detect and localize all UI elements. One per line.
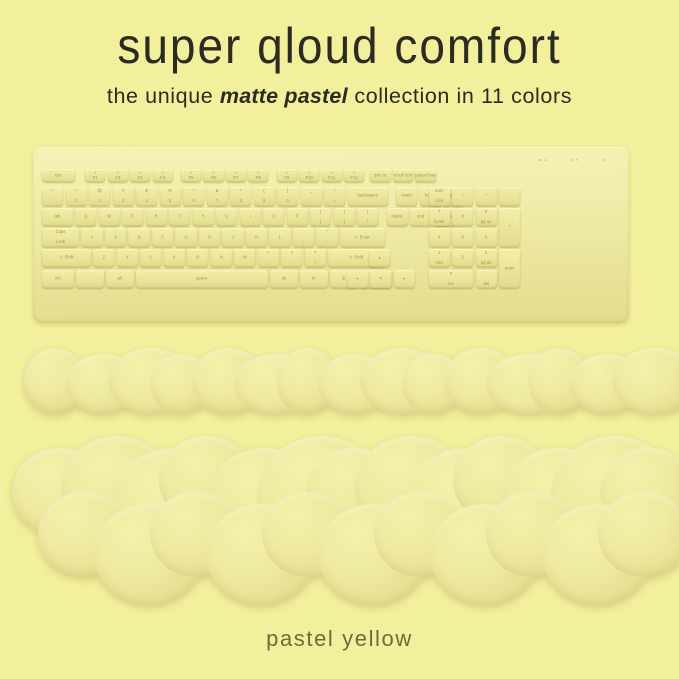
scrolllock-led: ↓ (603, 157, 610, 162)
key-legend: B (187, 256, 208, 261)
key-legend: home (429, 220, 450, 225)
key-legend: E (122, 215, 143, 220)
key-legend: ins (429, 282, 474, 287)
key-f8[interactable]: ♪F8 (248, 169, 268, 182)
key-legend: X (117, 256, 138, 261)
key-legend: F4 (153, 176, 173, 181)
key-legend: + (499, 225, 520, 230)
key-a-8[interactable]: K (246, 228, 267, 246)
key-numpad-*[interactable]: * (476, 187, 497, 205)
key-num-1[interactable]: !1 (66, 187, 87, 205)
key-a-1[interactable]: A (81, 228, 102, 246)
key-f4[interactable]: ♪F4 (153, 169, 173, 182)
key-z-10[interactable]: ?/ (305, 249, 326, 267)
key-num-2[interactable]: @2 (89, 187, 110, 205)
key-legend: @ (89, 189, 110, 194)
key-alt[interactable]: alt (106, 270, 134, 288)
key-space[interactable]: space (136, 270, 268, 288)
key-z-2[interactable]: X (117, 249, 138, 267)
key-legend: / (452, 194, 473, 199)
key-legend: alt (270, 276, 298, 281)
key-legend: V (164, 256, 185, 261)
key-num-8[interactable]: *8 (230, 187, 251, 205)
key-enter[interactable]: ↵ Enter (340, 228, 385, 246)
key-numpad-6[interactable]: 6 (476, 228, 497, 246)
key-q-8[interactable]: I (240, 208, 261, 226)
key-legend: 7 (429, 210, 450, 215)
key-legend: [ (310, 220, 331, 225)
indicator-leds: 1 A ↓ (539, 157, 610, 162)
key-esc[interactable]: esc (42, 169, 75, 182)
key-f1[interactable]: ♪F1 (85, 169, 105, 182)
key-legend: fn (300, 276, 328, 281)
key-legend: D (128, 235, 149, 240)
key-pause-break[interactable]: pause break (415, 169, 435, 182)
key-legend: ? (305, 251, 326, 256)
key-q-9[interactable]: O (263, 208, 284, 226)
key-legend: ] (334, 220, 355, 225)
key-alt[interactable]: alt (270, 270, 298, 288)
key-numpad-8[interactable]: 8 (452, 208, 473, 226)
key-a-2[interactable]: S (105, 228, 126, 246)
key-legend: ◂ (347, 276, 368, 281)
product-image: super qloud comfort the unique matte pas… (0, 0, 679, 679)
key-legend: % (160, 189, 181, 194)
key-legend: " (316, 230, 337, 235)
key-legend: num (429, 189, 450, 194)
key-legend: 1 (66, 199, 87, 204)
key-tab[interactable]: tab (42, 208, 73, 226)
key-legend: F2 (108, 176, 128, 181)
key-f11[interactable]: ♪F11 (322, 169, 342, 182)
key-legend: F6 (203, 176, 223, 181)
key-f7[interactable]: ♪F7 (226, 169, 246, 182)
key-legend: 5 (452, 235, 473, 240)
key-legend: . (476, 272, 497, 277)
key-legend: 9 (476, 210, 497, 215)
key-legend: * (230, 189, 251, 194)
subtitle-emphasis: matte pastel (220, 84, 348, 108)
key-legend: Z (93, 256, 114, 261)
subtitle-before: the unique (107, 84, 220, 108)
key-legend: pg up (476, 220, 497, 225)
key-q-10[interactable]: P (287, 208, 308, 226)
key-numpad---del[interactable]: .del (476, 270, 497, 288)
key-a-5[interactable]: G (175, 228, 196, 246)
key-numpad-7-home[interactable]: 7home (429, 208, 450, 226)
key-prtc-sc[interactable]: prtc sc (370, 169, 390, 182)
key-legend: ; (293, 240, 314, 245)
key-f6[interactable]: ♪F6 (203, 169, 223, 182)
key-a-7[interactable]: J (222, 228, 243, 246)
key-legend: space (136, 276, 268, 281)
key-num-3[interactable]: #3 (113, 187, 134, 205)
key-q-1[interactable]: Q (75, 208, 96, 226)
capslock-led: A (571, 157, 579, 162)
key-legend: M (234, 256, 255, 261)
key-a-4[interactable]: F (152, 228, 173, 246)
key-fn[interactable]: fn (300, 270, 328, 288)
key-legend: L (269, 235, 290, 240)
key-legend: esc (42, 173, 75, 178)
key-numpad-5[interactable]: 5 (452, 228, 473, 246)
key-numpad-1-end[interactable]: 1end (429, 249, 450, 267)
key-legend: - (499, 194, 520, 199)
key-legend: * (476, 194, 497, 199)
key-legend: 2 (89, 199, 110, 204)
key-legend: ` (42, 199, 63, 204)
key-num-5[interactable]: %5 (160, 187, 181, 205)
key-num-6[interactable]: ^6 (183, 187, 204, 205)
key-legend: Y (193, 215, 214, 220)
key-numpad-9-pg-up[interactable]: 9pg up (476, 208, 497, 226)
key-legend: $ (136, 189, 157, 194)
key-legend: A (81, 235, 102, 240)
key-legend: ^ (183, 189, 204, 194)
key-legend: / (305, 261, 326, 266)
key-num-11[interactable]: _- (301, 187, 322, 205)
key-legend: F (152, 235, 173, 240)
key-legend: ctrl (42, 276, 74, 281)
key-q-13[interactable]: |\ (357, 208, 378, 226)
key-legend: | (357, 210, 378, 215)
key-legend: scroll lock (393, 173, 413, 178)
key-numpad-/[interactable]: / (452, 187, 473, 205)
key-f10[interactable]: ♪F10 (299, 169, 319, 182)
key-q-12[interactable]: }] (334, 208, 355, 226)
key-caps-lock[interactable]: CapsLock (42, 228, 79, 246)
key-arrow-right[interactable]: ▸ (394, 270, 415, 288)
key-legend: 8 (230, 199, 251, 204)
key-legend: F5 (181, 176, 201, 181)
key-legend: ▾ (370, 276, 391, 281)
key-legend: 9 (254, 199, 275, 204)
key-legend: F10 (299, 176, 319, 181)
key-numpad-3-pg-dn[interactable]: 3pg dn (476, 249, 497, 267)
numlock-led: 1 (539, 157, 547, 162)
key-legend: > (281, 251, 302, 256)
key-num-0[interactable]: ~` (42, 187, 63, 205)
key-legend: F12 (344, 176, 364, 181)
key-a-10[interactable]: :; (293, 228, 314, 246)
key-legend: tab (42, 215, 73, 220)
key-legend: N (211, 256, 232, 261)
key-legend: + (324, 189, 345, 194)
key-legend: 6 (183, 199, 204, 204)
key-legend: ▴ (369, 256, 390, 261)
key-legend: - (301, 199, 322, 204)
key-legend: 0 (429, 272, 474, 277)
key-legend: ▸ (394, 276, 415, 281)
key-legend: ⇧ Shift (42, 256, 91, 261)
key-legend: & (207, 189, 228, 194)
key-legend: < (258, 251, 279, 256)
key-legend: end (429, 261, 450, 266)
key-legend: R (146, 215, 167, 220)
key-delete[interactable]: delete (387, 208, 408, 226)
key-q-2[interactable]: W (99, 208, 120, 226)
key-z-8[interactable]: <, (258, 249, 279, 267)
key-legend: lock (429, 199, 450, 204)
key-q-11[interactable]: {[ (310, 208, 331, 226)
key-z-9[interactable]: >. (281, 249, 302, 267)
key-legend: Caps (42, 230, 79, 235)
key-legend: 4 (136, 199, 157, 204)
key-legend: 2 (452, 256, 473, 261)
key-legend: insert (396, 194, 417, 199)
key-z-7[interactable]: M (234, 249, 255, 267)
key-legend: alt (106, 276, 134, 281)
key-legend: ~ (42, 189, 63, 194)
key-legend: 7 (207, 199, 228, 204)
key-legend: I (240, 215, 261, 220)
keyboard: 1 A ↓ esc♪F1♪F2♪F3♪F4♪F5♪F6♪F7♪F8♪F9♪F10… (33, 147, 629, 323)
key-legend: Q (75, 215, 96, 220)
key-legend: 3 (476, 251, 497, 256)
key-legend: H (199, 235, 220, 240)
key-num-10[interactable]: )0 (277, 187, 298, 205)
key-a-6[interactable]: H (199, 228, 220, 246)
key-ctrl[interactable]: ctrl (42, 270, 74, 288)
key-legend: pause break (415, 173, 435, 178)
key-legend: Lock (42, 240, 79, 245)
key-arrow-up[interactable]: ▴ (369, 249, 390, 267)
key-legend: pg dn (476, 261, 497, 266)
key-z-6[interactable]: N (211, 249, 232, 267)
key-q-7[interactable]: U (216, 208, 237, 226)
key-legend: . (281, 261, 302, 266)
key-legend: delete (387, 215, 408, 220)
key-f3[interactable]: ♪F3 (130, 169, 150, 182)
key-legend: ! (66, 189, 87, 194)
key-z-3[interactable]: C (140, 249, 161, 267)
key-legend: del (476, 282, 497, 287)
key-legend: F1 (85, 176, 105, 181)
key-win[interactable] (76, 270, 104, 288)
key-legend: } (334, 210, 355, 215)
subtitle: the unique matte pastel collection in 11… (0, 84, 679, 109)
key-legend: O (263, 215, 284, 220)
key-legend: W (99, 215, 120, 220)
key-legend: 0 (277, 199, 298, 204)
key-z-4[interactable]: V (164, 249, 185, 267)
key-legend: 8 (452, 215, 473, 220)
key-legend: ) (277, 189, 298, 194)
key-legend: 1 (429, 251, 450, 256)
key-legend: ' (316, 240, 337, 245)
key-legend: F3 (130, 176, 150, 181)
key-legend: F8 (248, 176, 268, 181)
key-legend: , (258, 261, 279, 266)
key-num-9[interactable]: (9 (254, 187, 275, 205)
key-legend: 4 (429, 235, 450, 240)
key-numpad-enter[interactable]: enter (499, 249, 520, 288)
key-q-4[interactable]: R (146, 208, 167, 226)
page-title: super qloud comfort (7, 16, 672, 74)
key-arrow-left[interactable]: ◂ (347, 270, 368, 288)
key-legend: F11 (322, 176, 342, 181)
key-arrow-down[interactable]: ▾ (370, 270, 391, 288)
key-legend: prtc sc (370, 173, 390, 178)
key-legend: U (216, 215, 237, 220)
key-a-11[interactable]: "' (316, 228, 337, 246)
key-q-6[interactable]: Y (193, 208, 214, 226)
key-legend: F9 (277, 176, 297, 181)
key-numpad--[interactable]: - (499, 187, 520, 205)
key-legend: ↵ Enter (340, 235, 385, 240)
key-legend: _ (301, 189, 322, 194)
key-legend: ( (254, 189, 275, 194)
key-scroll-lock[interactable]: scroll lock (393, 169, 413, 182)
key-f2[interactable]: ♪F2 (108, 169, 128, 182)
key-q-3[interactable]: E (122, 208, 143, 226)
key-legend: = (324, 199, 345, 204)
key-numpad-0-ins[interactable]: 0ins (429, 270, 474, 288)
key-legend: T (169, 215, 190, 220)
key-legend: K (246, 235, 267, 240)
key-q-5[interactable]: T (169, 208, 190, 226)
key-legend: \ (357, 220, 378, 225)
key-legend: G (175, 235, 196, 240)
key-shift-left[interactable]: ⇧ Shift (42, 249, 91, 267)
key-numpad-2[interactable]: 2 (452, 249, 473, 267)
subtitle-after: collection in 11 colors (348, 84, 572, 108)
keyboard-wrist-rest (28, 348, 652, 418)
color-caption: pastel yellow (0, 626, 679, 652)
key-legend: 6 (476, 235, 497, 240)
key-legend: 5 (160, 199, 181, 204)
key-num-7[interactable]: &7 (207, 187, 228, 205)
key-legend: 3 (113, 199, 134, 204)
key-backspace[interactable]: backspace (348, 187, 388, 205)
cloud-mouse-pad (22, 434, 658, 600)
key-insert[interactable]: insert (396, 187, 417, 205)
key-legend: F7 (226, 176, 246, 181)
key-a-9[interactable]: L (269, 228, 290, 246)
key-numpad-4[interactable]: 4 (429, 228, 450, 246)
key-f9[interactable]: ♪F9 (277, 169, 297, 182)
key-a-3[interactable]: D (128, 228, 149, 246)
key-legend: { (310, 210, 331, 215)
key-legend: J (222, 235, 243, 240)
key-z-1[interactable]: Z (93, 249, 114, 267)
key-legend: enter (499, 266, 520, 271)
key-f12[interactable]: ♪F12 (344, 169, 364, 182)
key-legend: C (140, 256, 161, 261)
key-legend: : (293, 230, 314, 235)
key-legend: S (105, 235, 126, 240)
key-legend: # (113, 189, 134, 194)
key-legend: backspace (348, 194, 388, 199)
key-num-12[interactable]: += (324, 187, 345, 205)
key-numpad-num-lock[interactable]: numlock (429, 187, 450, 205)
key-num-4[interactable]: $4 (136, 187, 157, 205)
key-f5[interactable]: ♪F5 (181, 169, 201, 182)
key-z-5[interactable]: B (187, 249, 208, 267)
key-legend: P (287, 215, 308, 220)
key-numpad-+[interactable]: + (499, 208, 520, 247)
cloud-lobe (598, 492, 679, 577)
